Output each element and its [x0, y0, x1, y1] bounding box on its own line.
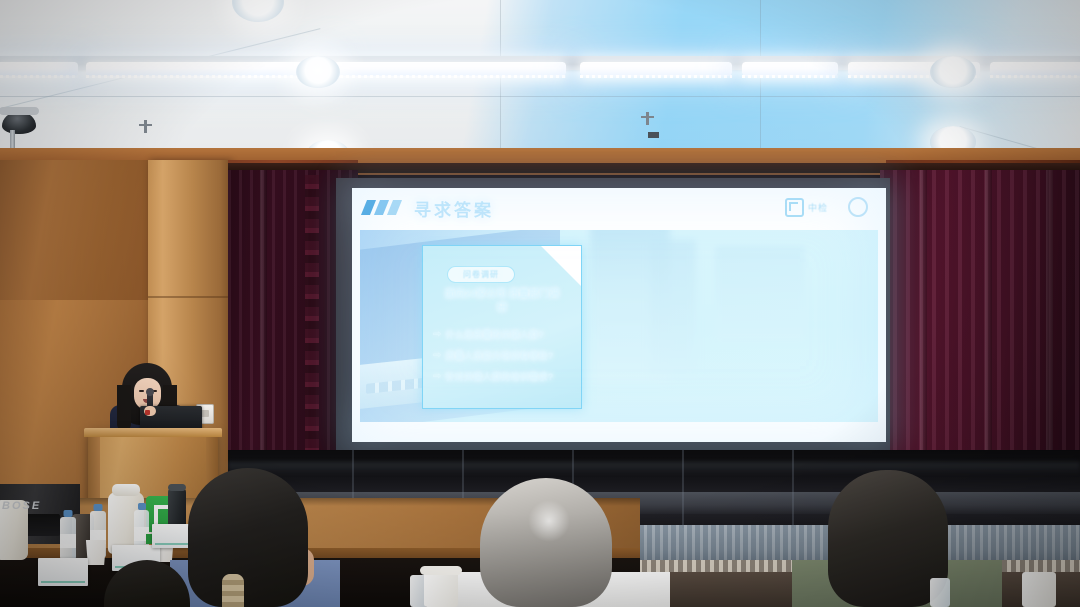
smoke-detector-icon — [648, 132, 659, 138]
laptop-logo-icon — [145, 410, 150, 415]
bose-brand-label: BOSE — [2, 500, 41, 512]
slide-brand-text: 中检 — [808, 201, 828, 214]
card-badge-label: 问卷调研 — [463, 269, 499, 280]
fluorescent-tube — [334, 62, 566, 76]
sprinkler-icon — [646, 112, 649, 125]
hair-tie — [222, 574, 244, 607]
slide-accent-bars-icon — [364, 200, 404, 215]
presentation-photo-scene: 寻求答案 中检 问卷调研 面向24家公司 质量部门调研 — [0, 0, 1080, 607]
recessed-downlight — [296, 56, 340, 88]
bottle-label — [60, 534, 76, 548]
ceiling-seam — [760, 0, 761, 160]
card-bullet-text: 针对关键人群的培训需求? — [445, 370, 553, 383]
card-bullet: ⇨ 质量人员能力培训有哪些? — [433, 345, 581, 366]
card-fold-corner — [541, 246, 581, 286]
sprinkler-icon — [144, 120, 147, 133]
slide-title: 寻求答案 — [414, 196, 494, 221]
logo-mark-icon — [785, 198, 804, 217]
pillar-seam — [148, 296, 230, 298]
dome-security-camera-icon — [2, 112, 36, 134]
name-plate — [38, 558, 88, 586]
panel-seam — [792, 450, 794, 528]
slide-footer — [352, 424, 886, 442]
bottle-cap — [64, 510, 73, 517]
fluorescent-tube — [990, 62, 1080, 76]
ring-icon — [848, 197, 868, 217]
projection-screen: 寻求答案 中检 问卷调研 面向24家公司 质量部门调研 — [352, 188, 886, 442]
slide-header: 寻求答案 中检 — [352, 188, 886, 226]
fluorescent-tube — [0, 62, 78, 76]
ceiling-seam — [0, 96, 1080, 97]
card-bullet: ⇨ 什么是质量的关键人群? — [433, 324, 581, 345]
fluorescent-tube — [580, 62, 732, 76]
bottle-cap — [138, 503, 146, 510]
arrow-icon: ⇨ — [433, 371, 441, 382]
arrow-icon: ⇨ — [433, 329, 441, 340]
slide-card: 问卷调研 面向24家公司 质量部门调研 ⇨ 什么是质量的关键人群? ⇨ 质量人员… — [422, 245, 582, 409]
ceiling-seam — [500, 0, 501, 160]
fluorescent-tube — [86, 62, 326, 76]
slide-brand-logo: 中检 — [785, 198, 828, 217]
hair-crown — [528, 500, 570, 542]
arrow-icon: ⇨ — [433, 350, 441, 361]
card-bullet-text: 质量人员能力培训有哪些? — [445, 349, 553, 362]
water-bottle — [60, 510, 76, 560]
slide-body: 问卷调研 面向24家公司 质量部门调研 ⇨ 什么是质量的关键人群? ⇨ 质量人员… — [360, 230, 878, 422]
card-badge: 问卷调研 — [447, 266, 515, 283]
card-subtitle: 面向24家公司 质量部门调研 — [441, 288, 563, 316]
ceiling — [0, 0, 1080, 160]
card-bullet-text: 什么是质量的关键人群? — [445, 328, 544, 341]
cup-lid — [420, 566, 462, 575]
card-bullet: ⇨ 针对关键人群的培训需求? — [433, 366, 581, 387]
speaker-eye — [139, 390, 144, 392]
jug-lid — [112, 484, 140, 496]
podium-top — [84, 428, 222, 437]
stage-panel-reflection — [228, 462, 1080, 474]
paper-cup — [1022, 572, 1056, 607]
attendee-left-head — [188, 468, 308, 607]
panel-seam — [682, 450, 684, 528]
fluorescent-tube — [742, 62, 838, 76]
thermos-lid — [168, 484, 186, 491]
bottle-cap — [94, 504, 103, 511]
recessed-downlight — [930, 56, 976, 88]
water-bottle — [930, 578, 950, 607]
paper-cup — [424, 570, 458, 607]
card-bullet-list: ⇨ 什么是质量的关键人群? ⇨ 质量人员能力培训有哪些? ⇨ 针对关键人群的培训… — [433, 324, 581, 387]
attendee-center-head — [480, 478, 612, 607]
